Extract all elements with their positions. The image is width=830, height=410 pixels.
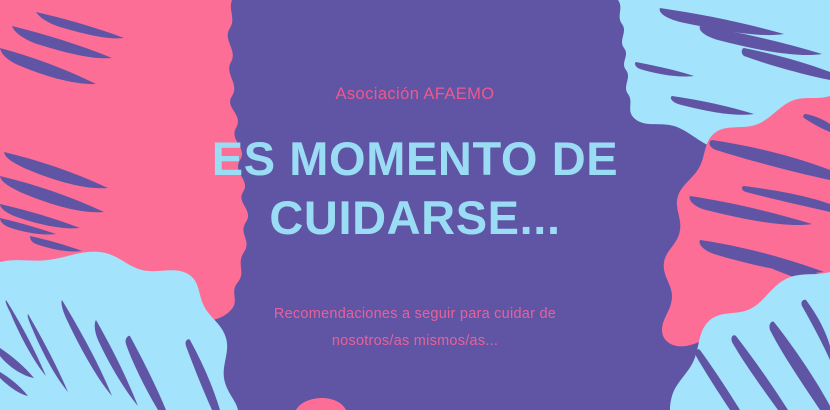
organization-name: Asociación AFAEMO: [335, 86, 494, 103]
slide-subtitle: Recomendaciones a seguir para cuidar de …: [274, 301, 556, 355]
title-slide: Asociación AFAEMO ES MOMENTO DE CUIDARSE…: [0, 0, 830, 410]
slide-content: Asociación AFAEMO ES MOMENTO DE CUIDARSE…: [0, 0, 830, 410]
page-title: ES MOMENTO DE CUIDARSE...: [212, 129, 618, 247]
